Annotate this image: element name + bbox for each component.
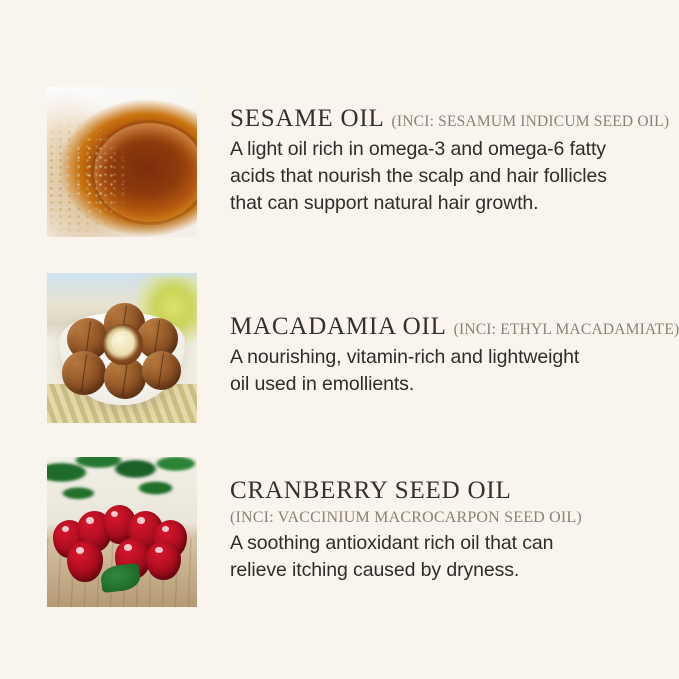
description-line: A light oil rich in omega-3 and omega-6 … xyxy=(230,136,670,163)
ingredient-description-cranberry: A soothing antioxidant rich oil that can… xyxy=(230,530,670,584)
ingredient-block-macadamia: MACADAMIA OIL(INCI: ETHYL MACADAMIATE) A… xyxy=(0,273,679,423)
ingredient-name-sesame: SESAME OIL xyxy=(230,105,385,132)
ingredient-description-macadamia: A nourishing, vitamin-rich and lightweig… xyxy=(230,344,670,398)
sesame-oil-photo xyxy=(47,87,197,237)
macadamia-oil-photo xyxy=(47,273,197,423)
description-line: relieve itching caused by dryness. xyxy=(230,557,670,584)
description-line: acids that nourish the scalp and hair fo… xyxy=(230,163,670,190)
title-line-cranberry: CRANBERRY SEED OIL xyxy=(230,477,670,505)
cranberry-seed-oil-photo xyxy=(47,457,197,607)
cranberry-shape xyxy=(146,541,181,580)
description-line: A nourishing, vitamin-rich and lightweig… xyxy=(230,344,670,371)
ingredient-name-cranberry: CRANBERRY SEED OIL xyxy=(230,477,512,504)
ingredient-inci-sesame: (INCI: SESAMUM INDICUM SEED OIL) xyxy=(392,113,670,130)
title-line-sesame: SESAME OIL(INCI: SESAMUM INDICUM SEED OI… xyxy=(230,105,670,133)
cranberry-seed-oil-image xyxy=(47,457,197,607)
ingredient-inci-macadamia: (INCI: ETHYL MACADAMIATE) xyxy=(454,321,679,338)
ingredient-block-cranberry: CRANBERRY SEED OIL (INCI: VACCINIUM MACR… xyxy=(0,457,679,607)
ingredient-name-macadamia: MACADAMIA OIL xyxy=(230,313,447,340)
ingredient-inci-cranberry: (INCI: VACCINIUM MACROCARPON SEED OIL) xyxy=(230,509,670,527)
sesame-oil-image xyxy=(47,87,197,237)
ingredient-text-sesame: SESAME OIL(INCI: SESAMUM INDICUM SEED OI… xyxy=(230,105,670,217)
description-line: that can support natural hair growth. xyxy=(230,190,670,217)
cranberry-shape xyxy=(67,541,103,582)
ingredient-block-sesame: SESAME OIL(INCI: SESAMUM INDICUM SEED OI… xyxy=(0,87,679,237)
ingredient-text-macadamia: MACADAMIA OIL(INCI: ETHYL MACADAMIATE) A… xyxy=(230,313,670,398)
description-line: oil used in emollients. xyxy=(230,371,670,398)
title-line-macadamia: MACADAMIA OIL(INCI: ETHYL MACADAMIATE) xyxy=(230,313,670,341)
bowl-rim-shape xyxy=(91,120,198,225)
cracked-macadamia-nut-shape xyxy=(103,324,144,365)
ingredient-description-sesame: A light oil rich in omega-3 and omega-6 … xyxy=(230,136,670,217)
macadamia-nut-shape xyxy=(62,351,106,395)
ingredient-benefits-panel: SESAME OIL(INCI: SESAMUM INDICUM SEED OI… xyxy=(0,0,679,679)
ingredient-text-cranberry: CRANBERRY SEED OIL (INCI: VACCINIUM MACR… xyxy=(230,477,670,584)
macadamia-nut-shape xyxy=(142,351,181,390)
macadamia-oil-image xyxy=(47,273,197,423)
description-line: A soothing antioxidant rich oil that can xyxy=(230,530,670,557)
